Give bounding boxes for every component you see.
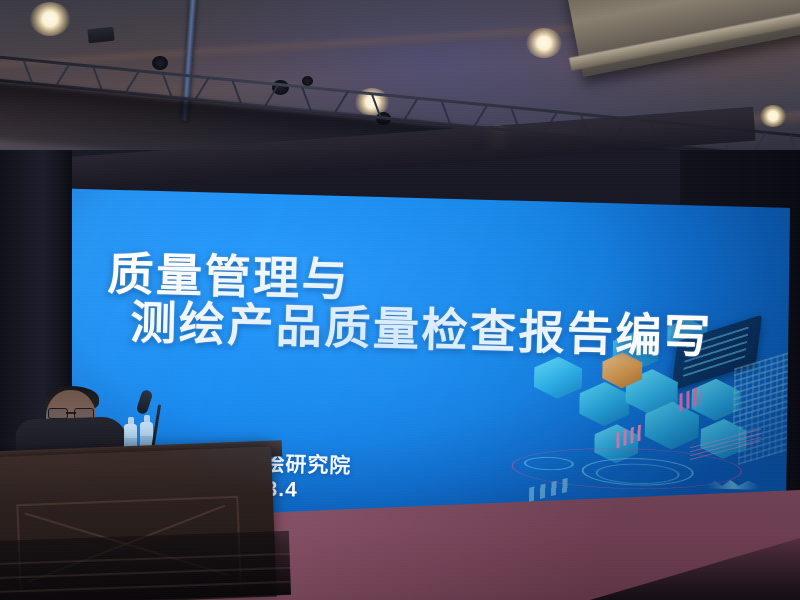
truss-web — [371, 94, 381, 117]
truss-web — [265, 85, 279, 106]
seat-edge-highlight — [0, 553, 290, 565]
truss-web — [474, 105, 488, 126]
ceiling-speaker-icon — [152, 56, 168, 70]
truss-web — [404, 98, 418, 119]
truss-web — [92, 67, 102, 90]
eyeglass-bridge — [66, 412, 76, 414]
truss-web — [23, 60, 33, 83]
truss-web — [301, 87, 311, 110]
truss-web — [56, 64, 70, 85]
downlight-icon — [760, 105, 786, 127]
truss-web — [162, 74, 172, 97]
truss-web — [125, 71, 139, 92]
truss-web — [195, 78, 209, 99]
ceiling-vent — [87, 27, 114, 44]
seat-edge-highlight — [0, 567, 290, 579]
eyeglasses-icon — [48, 408, 94, 417]
downlight-icon — [526, 28, 562, 58]
truss-web — [334, 92, 348, 113]
ceiling-speaker-icon — [302, 76, 313, 86]
truss-web — [441, 101, 451, 124]
downlight-icon — [30, 2, 70, 36]
seat-edge-highlight — [0, 581, 291, 593]
truss-web — [232, 80, 242, 103]
presentation-photo: 质量管理与 测绘产品质量检查报告编写 济南市勘察测绘研究院 杜洪涛 2023.4 — [0, 0, 800, 600]
seat-row-silhouette — [0, 531, 291, 600]
